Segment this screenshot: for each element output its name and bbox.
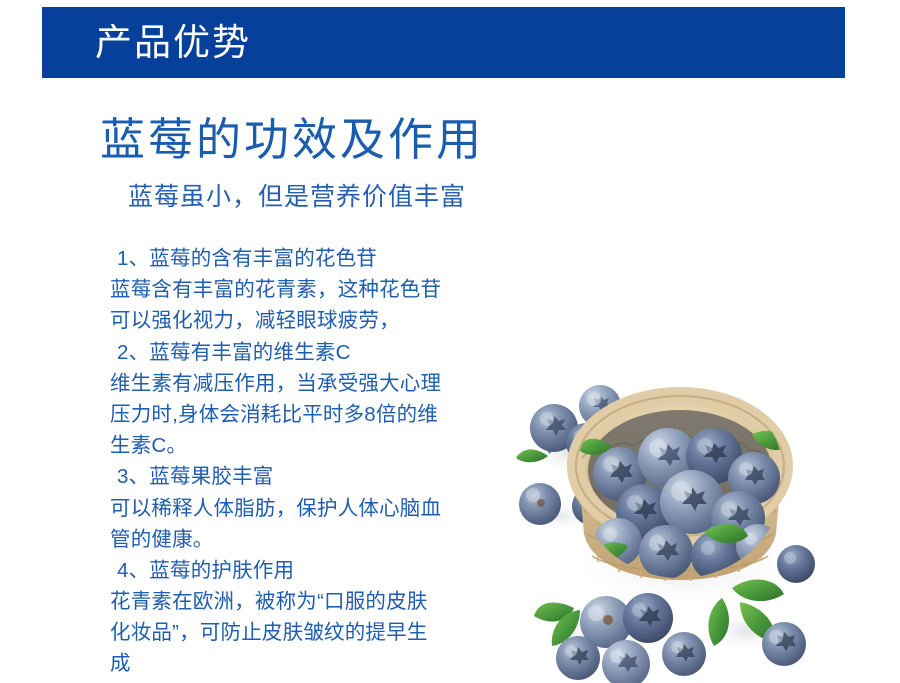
page-subtitle: 蓝莓虽小，但是营养价值丰富: [128, 184, 466, 212]
product-advantage-page: 产品优势 蓝莓的功效及作用 蓝莓虽小，但是营养价值丰富 1、蓝莓的含有丰富的花色…: [0, 0, 900, 683]
blueberry-basket-photo: [508, 306, 826, 683]
benefit-heading-line: 4、蓝莓的护肤作用: [110, 555, 530, 586]
benefit-body-line: 成: [110, 648, 530, 679]
benefits-copy-block: 1、蓝莓的含有丰富的花色苷蓝莓含有丰富的花青素，这种花色苷可以强化视力，减轻眼球…: [110, 243, 530, 680]
benefit-heading-line: 2、蓝莓有丰富的维生素C: [110, 337, 530, 368]
benefit-body-line: 压力时,身体会消耗比平时多8倍的维: [110, 399, 530, 430]
section-header-banner: 产品优势: [42, 7, 845, 78]
blueberry-basket-illustration: [508, 306, 826, 683]
banner-title: 产品优势: [95, 24, 251, 61]
benefit-body-line: 维生素有减压作用，当承受强大心理: [110, 368, 530, 399]
page-title: 蓝莓的功效及作用: [100, 116, 484, 163]
benefit-body-line: 生素C。: [110, 430, 530, 461]
benefit-body-line: 可以强化视力，减轻眼球疲劳，: [110, 305, 530, 336]
benefit-heading-line: 3、蓝莓果胶丰富: [110, 461, 530, 492]
benefit-body-line: 化妆品”，可防止皮肤皱纹的提早生: [110, 617, 530, 648]
benefit-body-line: 可以稀释人体脂肪，保护人体心脑血: [110, 493, 530, 524]
benefit-body-line: 管的健康。: [110, 524, 530, 555]
benefit-body-line: 花青素在欧洲，被称为“口服的皮肤: [110, 586, 530, 617]
woven-basket: [576, 396, 786, 581]
benefit-body-line: 蓝莓含有丰富的花青素，这种花色苷: [110, 274, 530, 305]
berry: [777, 545, 815, 583]
benefit-heading-line: 1、蓝莓的含有丰富的花色苷: [110, 243, 530, 274]
